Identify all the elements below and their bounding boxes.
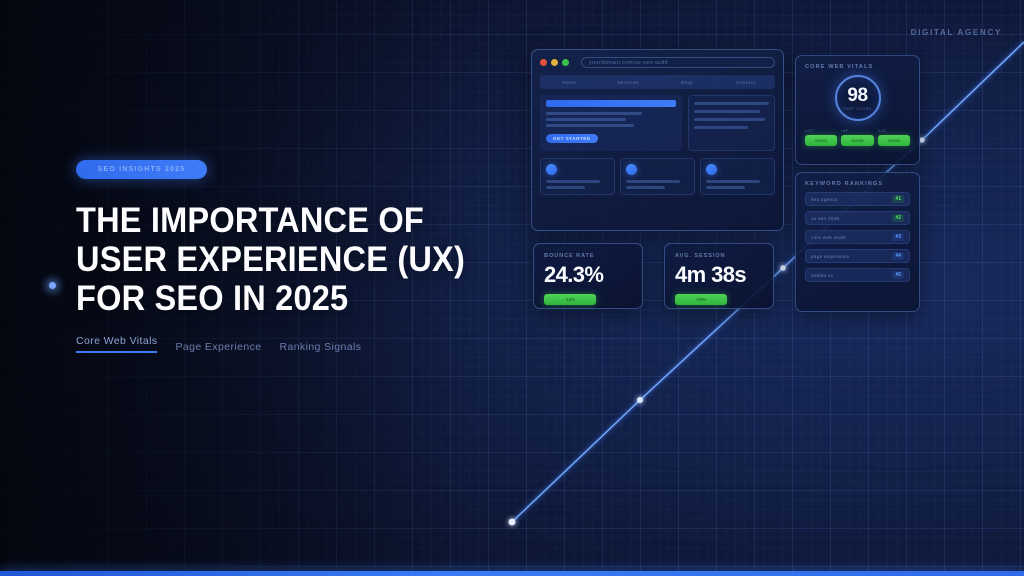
hero-text-bar	[546, 112, 642, 115]
core-web-vitals-title: Core Web Vitals	[805, 64, 910, 70]
stat-card-avg-session: Avg. Session 4m 38s +18%	[664, 243, 774, 309]
sidebar-line	[694, 118, 766, 121]
feature-line	[626, 180, 680, 183]
metric-label: CLS	[878, 129, 910, 133]
site-nav: Home Services Blog Contact	[540, 75, 775, 89]
metric-label: LCP	[805, 129, 837, 133]
browser-titlebar: yourdomain.com/ux-seo-audit	[540, 57, 775, 68]
site-hero-row: GET STARTED	[540, 95, 775, 151]
keyword-position: #5	[892, 271, 904, 279]
site-hero-block: GET STARTED	[540, 95, 682, 151]
keyword-row[interactable]: mobile ux #5	[805, 268, 910, 282]
maximize-icon[interactable]	[562, 59, 569, 66]
feature-line	[546, 180, 600, 183]
keyword-row[interactable]: seo agency #1	[805, 192, 910, 206]
sidebar-line	[694, 110, 760, 113]
metric-label: INP	[841, 129, 873, 133]
keyword-name: seo agency	[811, 197, 838, 202]
keyword-rankings-title: Keyword Rankings	[805, 181, 910, 187]
keyword-rankings-panel: Keyword Rankings seo agency #1 ux seo 20…	[795, 172, 920, 312]
nav-item-home[interactable]: Home	[540, 80, 599, 85]
keyword-row[interactable]: page experience #4	[805, 249, 910, 263]
browser-mockup: yourdomain.com/ux-seo-audit Home Service…	[531, 49, 784, 231]
site-feature-cards	[540, 158, 775, 195]
page-title: The Importance of User Experience (UX) f…	[76, 201, 476, 319]
keyword-position: #4	[892, 252, 904, 260]
feature-line	[706, 186, 745, 189]
feature-icon	[546, 164, 557, 175]
sidebar-line	[694, 126, 748, 129]
feature-line	[546, 186, 585, 189]
nav-item-blog[interactable]: Blog	[658, 80, 717, 85]
hero-subnav: Core Web Vitals Page Experience Ranking …	[76, 335, 506, 353]
feature-line	[706, 180, 760, 183]
subnav-item-core-web-vitals[interactable]: Core Web Vitals	[76, 335, 157, 353]
stat-trend-badge: -12%	[544, 294, 596, 305]
feature-icon	[626, 164, 637, 175]
keyword-name: core web vitals	[811, 235, 846, 240]
keyword-row[interactable]: core web vitals #3	[805, 230, 910, 244]
brand-label: DIGITAL AGENCY	[911, 28, 1002, 37]
hero-badge: SEO INSIGHTS 2025	[76, 160, 207, 179]
keyword-name: ux seo 2025	[811, 216, 839, 221]
metric-status-bar: GOOD	[805, 135, 837, 146]
stat-card-bounce-rate: Bounce Rate 24.3% -12%	[533, 243, 643, 309]
feature-card[interactable]	[540, 158, 615, 195]
score-sublabel: PERF SCORE	[843, 107, 871, 111]
keyword-name: page experience	[811, 254, 849, 259]
hero-text-bar	[546, 118, 626, 121]
site-sidebar-block	[688, 95, 775, 151]
vitals-metrics: LCP GOOD INP GOOD CLS GOOD	[805, 129, 910, 146]
nav-item-contact[interactable]: Contact	[716, 80, 775, 85]
subnav-item-ranking-signals[interactable]: Ranking Signals	[279, 341, 361, 353]
bottom-accent-bar	[0, 571, 1024, 576]
nav-item-services[interactable]: Services	[599, 80, 658, 85]
close-icon[interactable]	[540, 59, 547, 66]
score-ring-wrap: 98 PERF SCORE	[805, 75, 910, 121]
get-started-button[interactable]: GET STARTED	[546, 134, 598, 143]
feature-card[interactable]	[620, 158, 695, 195]
subnav-item-page-experience[interactable]: Page Experience	[175, 341, 261, 353]
hero-block: SEO INSIGHTS 2025 The Importance of User…	[76, 160, 506, 353]
keyword-row[interactable]: ux seo 2025 #2	[805, 211, 910, 225]
minimize-icon[interactable]	[551, 59, 558, 66]
feature-line	[626, 186, 665, 189]
keyword-name: mobile ux	[811, 273, 833, 278]
core-web-vitals-panel: Core Web Vitals 98 PERF SCORE LCP GOOD I…	[795, 55, 920, 165]
stat-trend-badge: +18%	[675, 294, 727, 305]
metric-lcp: LCP GOOD	[805, 129, 837, 146]
metric-inp: INP GOOD	[841, 129, 873, 146]
feature-icon	[706, 164, 717, 175]
address-bar[interactable]: yourdomain.com/ux-seo-audit	[581, 57, 775, 68]
metric-status-bar: GOOD	[878, 135, 910, 146]
decorative-node-dot	[49, 282, 56, 289]
slide-canvas: DIGITAL AGENCY SEO INSIGHTS 2025 The Imp…	[0, 0, 1024, 576]
keyword-position: #2	[892, 214, 904, 222]
keyword-position: #3	[892, 233, 904, 241]
metric-status-bar: GOOD	[841, 135, 873, 146]
score-ring: 98 PERF SCORE	[835, 75, 881, 121]
stat-value: 4m 38s	[675, 264, 763, 286]
hero-headline-bar	[546, 100, 676, 107]
score-value: 98	[847, 86, 867, 105]
stat-value: 24.3%	[544, 264, 632, 286]
stat-label: Bounce Rate	[544, 253, 632, 259]
sidebar-line	[694, 102, 769, 105]
stat-label: Avg. Session	[675, 253, 763, 259]
metric-cls: CLS GOOD	[878, 129, 910, 146]
keyword-position: #1	[892, 195, 904, 203]
feature-card[interactable]	[700, 158, 775, 195]
hero-text-bar	[546, 124, 634, 127]
